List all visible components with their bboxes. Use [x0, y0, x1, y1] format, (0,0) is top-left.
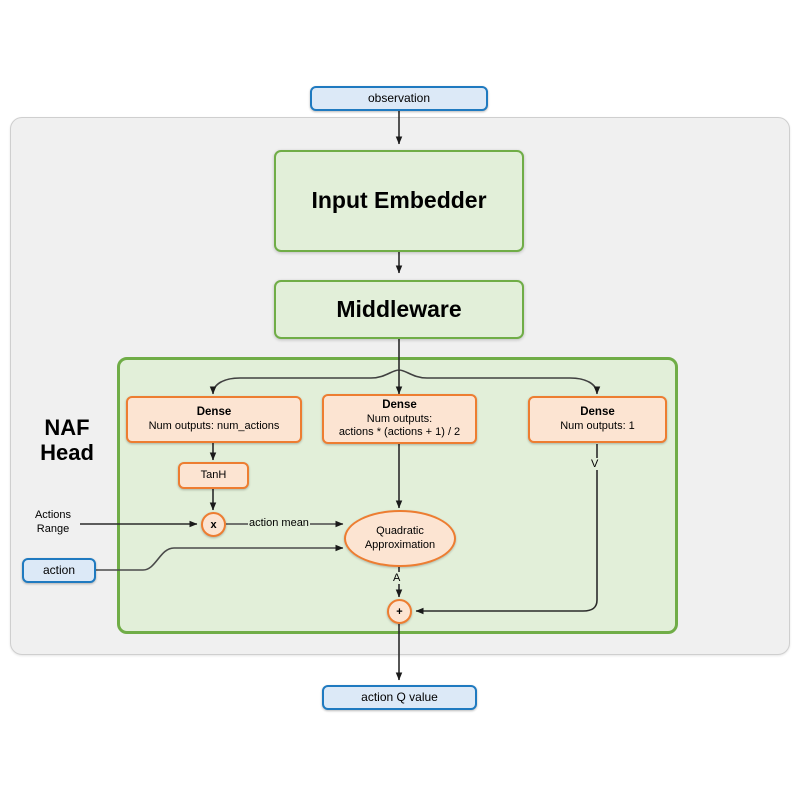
dense-right-sub: Num outputs: 1 — [560, 420, 635, 433]
value-label: V — [590, 458, 599, 470]
multiply-symbol: x — [210, 519, 216, 531]
observation-label: observation — [368, 91, 430, 105]
multiply-operator[interactable]: x — [201, 512, 226, 537]
add-operator[interactable]: + — [387, 599, 412, 624]
dense-right-title: Dense — [580, 406, 615, 420]
action-q-value-box[interactable]: action Q value — [322, 685, 477, 710]
middleware-box[interactable]: Middleware — [274, 280, 524, 339]
advantage-label: A — [392, 572, 401, 584]
actions-range-label: Actions Range — [24, 508, 82, 537]
dense-center-sub-2: actions * (actions + 1) / 2 — [339, 426, 460, 439]
quadratic-line1: Quadratic — [376, 525, 424, 539]
diagram-canvas: observation Input Embedder Middleware NA… — [0, 0, 800, 800]
dense-left-title: Dense — [197, 406, 232, 420]
tanh-box[interactable]: TanH — [178, 462, 249, 489]
input-embedder-label: Input Embedder — [311, 187, 486, 214]
observation-box[interactable]: observation — [310, 86, 488, 111]
actions-range-line1: Actions — [24, 508, 82, 522]
action-mean-text: action mean — [249, 517, 309, 529]
action-q-value-label: action Q value — [361, 690, 438, 704]
naf-head-title-line1: NAF — [26, 415, 108, 440]
quadratic-approximation-node[interactable]: Quadratic Approximation — [344, 510, 456, 567]
naf-head-title-line2: Head — [26, 440, 108, 465]
middleware-label: Middleware — [336, 296, 461, 323]
dense-left-box[interactable]: Dense Num outputs: num_actions — [126, 396, 302, 443]
naf-head-title: NAF Head — [26, 415, 108, 466]
quadratic-line2: Approximation — [365, 539, 435, 553]
input-embedder-box[interactable]: Input Embedder — [274, 150, 524, 252]
dense-left-sub: Num outputs: num_actions — [149, 420, 280, 433]
actions-range-line2: Range — [24, 522, 82, 536]
tanh-label: TanH — [201, 469, 227, 482]
action-mean-label: action mean — [248, 517, 310, 529]
dense-center-title: Dense — [382, 399, 417, 413]
dense-right-box[interactable]: Dense Num outputs: 1 — [528, 396, 667, 443]
dense-center-sub-1: Num outputs: — [367, 413, 432, 426]
value-text: V — [591, 458, 598, 470]
dense-center-box[interactable]: Dense Num outputs: actions * (actions + … — [322, 394, 477, 444]
action-box[interactable]: action — [22, 558, 96, 583]
add-symbol: + — [396, 606, 402, 618]
advantage-text: A — [393, 572, 400, 584]
action-label: action — [43, 563, 75, 577]
